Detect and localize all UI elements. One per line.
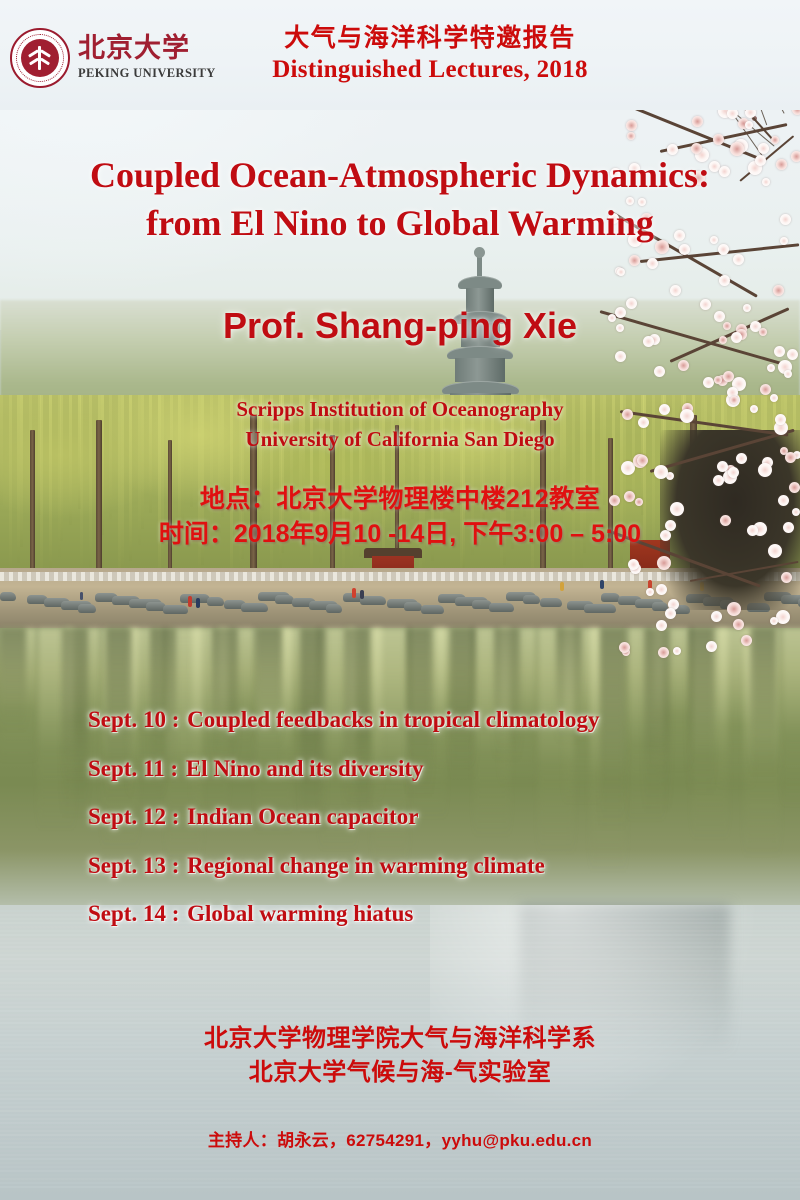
schedule-row: Sept. 11 : El Nino and its diversity xyxy=(88,756,748,782)
schedule-topic: Coupled feedbacks in tropical climatolog… xyxy=(181,707,599,732)
schedule-row: Sept. 10 : Coupled feedbacks in tropical… xyxy=(88,707,748,733)
schedule-topic: Indian Ocean capacitor xyxy=(181,804,418,829)
schedule-date: Sept. 13 : xyxy=(88,853,179,878)
organizer-block: 北京大学物理学院大气与海洋科学系 北京大学气候与海-气实验室 xyxy=(0,1022,800,1090)
schedule-date: Sept. 14 : xyxy=(88,901,179,926)
lecture-poster: 北京大学 PEKING UNIVERSITY 大气与海洋科学特邀报告 Disti… xyxy=(0,0,800,1200)
poster-content: Coupled Ocean-Atmospheric Dynamics: from… xyxy=(0,0,800,1200)
title-line-1: Coupled Ocean-Atmospheric Dynamics: xyxy=(0,152,800,200)
time-line: 时间：2018年9月10 -14日, 下午3:00 – 5:00 xyxy=(0,517,800,552)
schedule-date: Sept. 12 : xyxy=(88,804,179,829)
schedule-row: Sept. 12 : Indian Ocean capacitor xyxy=(88,804,748,830)
organizer-line-2: 北京大学气候与海-气实验室 xyxy=(0,1056,800,1090)
schedule-topic: El Nino and its diversity xyxy=(180,756,423,781)
schedule-row: Sept. 13 : Regional change in warming cl… xyxy=(88,853,748,879)
schedule-topic: Global warming hiatus xyxy=(181,901,413,926)
affiliation-line-2: University of California San Diego xyxy=(0,425,800,455)
venue-and-time: 地点：北京大学物理楼中楼212教室 时间：2018年9月10 -14日, 下午3… xyxy=(0,482,800,551)
venue-line: 地点：北京大学物理楼中楼212教室 xyxy=(0,482,800,517)
schedule-date: Sept. 11 : xyxy=(88,756,178,781)
organizer-line-1: 北京大学物理学院大气与海洋科学系 xyxy=(0,1022,800,1056)
speaker-name: Prof. Shang-ping Xie xyxy=(0,305,800,347)
page-title: Coupled Ocean-Atmospheric Dynamics: from… xyxy=(0,152,800,247)
lecture-schedule-list: Sept. 10 : Coupled feedbacks in tropical… xyxy=(88,707,748,950)
affiliation-line-1: Scripps Institution of Oceanography xyxy=(0,395,800,425)
schedule-row: Sept. 14 : Global warming hiatus xyxy=(88,901,748,927)
title-line-2: from El Nino to Global Warming xyxy=(0,200,800,248)
speaker-affiliation: Scripps Institution of Oceanography Univ… xyxy=(0,395,800,455)
schedule-topic: Regional change in warming climate xyxy=(181,853,545,878)
schedule-date: Sept. 10 : xyxy=(88,707,179,732)
contact-line: 主持人：胡永云，62754291，yyhu@pku.edu.cn xyxy=(0,1126,800,1151)
